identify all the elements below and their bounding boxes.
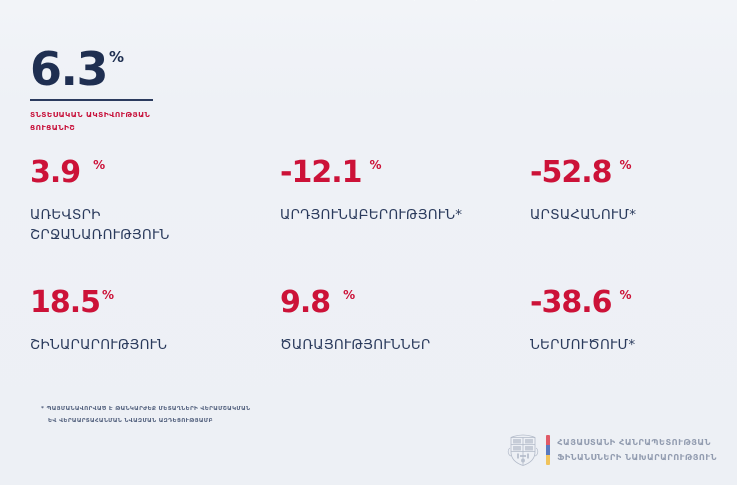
footnote-line2: ԵՎ ՎԵՐԱԱՐՏԱՀԱՆՄԱՆ ՆՎԱԶՄԱՆ ԱԶԴԵՑՈՒԹՅԱՄԲ: [41, 415, 341, 427]
kpi-percent-symbol: %: [93, 159, 105, 171]
kpi-value: 18.5: [30, 288, 100, 318]
kpi-label-line1: ԱՐՏԱՀԱՆՈՒՄ*: [530, 207, 636, 223]
kpi-percent-symbol: %: [619, 289, 631, 301]
kpi-percent-symbol: %: [369, 159, 381, 171]
kpi-label-line1: ԱՐԴՅՈՒՆԱԲԵՐՈՒԹՅՈՒՆ*: [280, 207, 462, 223]
armenian-flag-icon: [546, 435, 550, 465]
kpi-cell-services: 9.8 % ԾԱՌԱՅՈՒԹՅՈՒՆՆԵՐ: [280, 288, 530, 418]
kpi-value-row: 3.9 %: [30, 158, 280, 188]
kpi-value: 9.8: [280, 288, 330, 318]
kpi-percent-symbol: %: [343, 289, 355, 301]
kpi-value-row: 9.8 %: [280, 288, 530, 318]
ministry-logo-text: ՀԱՅԱՍՏԱՆԻ ՀԱՆՐԱՊԵՏՈՒԹՅԱՆ ՖԻՆԱՆՍՆԵՐԻ ՆԱԽԱ…: [557, 435, 717, 465]
kpi-label: ԾԱՌԱՅՈՒԹՅՈՒՆՆԵՐ: [280, 335, 515, 355]
infographic-stage: ՏՆՏԵՍԱԿԱՆ ԱԿՏԻՎՈՒԹՅԱՆ 6.3 % ՏՆՏԵՍԱԿԱՆ ԱԿ…: [0, 0, 737, 485]
kpi-label-line1: ՇԻՆԱՐԱՐՈՒԹՅՈՒՆ: [30, 337, 167, 353]
kpi-label-line1: ԾԱՌԱՅՈՒԹՅՈՒՆՆԵՐ: [280, 337, 430, 353]
headline-kpi: 6.3 % ՏՆՏԵՍԱԿԱՆ ԱԿՏԻՎՈՒԹՅԱՆ ՑՈՒՑԱՆԻՇ: [30, 48, 230, 134]
kpi-value-row: 18.5 %: [30, 288, 280, 318]
flag-stripe-orange: [546, 455, 550, 465]
flag-stripe-blue: [546, 445, 550, 455]
headline-label-line1: ՏՆՏԵՍԱԿԱՆ ԱԿՏԻՎՈՒԹՅԱՆ: [30, 110, 150, 119]
kpi-label: ԱՌԵՎՏՐԻ ՇՐՋԱՆԱՌՈՒԹՅՈՒՆ: [30, 205, 265, 246]
kpi-value-row: -38.6 %: [530, 288, 720, 318]
kpi-value: -52.8: [530, 158, 611, 188]
headline-percent-symbol: %: [109, 50, 124, 65]
headline-value: 6.3: [30, 48, 107, 90]
kpi-label: ՆԵՐՄՈՒԾՈՒՄ*: [530, 335, 720, 355]
kpi-grid: 3.9 % ԱՌԵՎՏՐԻ ՇՐՋԱՆԱՌՈՒԹՅՈՒՆ -12.1 % ԱՐԴ…: [30, 158, 720, 418]
headline-divider: [30, 99, 153, 101]
kpi-label-line1: ԱՌԵՎՏՐԻ: [30, 207, 101, 223]
kpi-percent-symbol: %: [619, 159, 631, 171]
kpi-label-line2: ՇՐՋԱՆԱՌՈՒԹՅՈՒՆ: [30, 227, 170, 243]
ministry-logo-line1: ՀԱՅԱՍՏԱՆԻ ՀԱՆՐԱՊԵՏՈՒԹՅԱՆ: [557, 435, 717, 450]
kpi-percent-symbol: %: [102, 289, 114, 301]
kpi-cell-construction: 18.5 % ՇԻՆԱՐԱՐՈՒԹՅՈՒՆ: [30, 288, 280, 418]
kpi-value: -12.1: [280, 158, 361, 188]
page-title-container: ՏՆՏԵՍԱԿԱՆ ԱԿՏԻՎՈՒԹՅԱՆ: [0, 0, 737, 28]
headline-label: ՏՆՏԵՍԱԿԱՆ ԱԿՏԻՎՈՒԹՅԱՆ ՑՈՒՑԱՆԻՇ: [30, 109, 180, 133]
kpi-cell-trade-turnover: 3.9 % ԱՌԵՎՏՐԻ ՇՐՋԱՆԱՌՈՒԹՅՈՒՆ: [30, 158, 280, 288]
ministry-logo-line2: ՖԻՆԱՆՍՆԵՐԻ ՆԱԽԱՐԱՐՈՒԹՅՈՒՆ: [557, 450, 717, 465]
coat-of-arms-icon: [507, 433, 539, 467]
page-title: ՏՆՏԵՍԱԿԱՆ ԱԿՏԻՎՈՒԹՅԱՆ: [243, 0, 737, 6]
kpi-label: ԱՐՏԱՀԱՆՈՒՄ*: [530, 205, 720, 225]
kpi-value: -38.6: [530, 288, 611, 318]
flag-stripe-red: [546, 435, 550, 445]
kpi-cell-exports: -52.8 % ԱՐՏԱՀԱՆՈՒՄ*: [530, 158, 720, 288]
footnote-line1: * ՊԱՅՄԱՆԱՎՈՐՎԱԾ Է ԹԱՆԿԱՐԺԵՔ ՄԵՏԱՂՆԵՐԻ ՎԵ…: [41, 403, 341, 415]
headline-label-line2: ՑՈՒՑԱՆԻՇ: [30, 123, 75, 132]
kpi-value: 3.9: [30, 158, 80, 188]
kpi-label-line1: ՆԵՐՄՈՒԾՈՒՄ*: [530, 337, 635, 353]
ministry-logo: ՀԱՅԱՍՏԱՆԻ ՀԱՆՐԱՊԵՏՈՒԹՅԱՆ ՖԻՆԱՆՍՆԵՐԻ ՆԱԽԱ…: [507, 433, 717, 467]
kpi-value-row: -12.1 %: [280, 158, 530, 188]
headline-value-row: 6.3 %: [30, 48, 230, 90]
footnote: * ՊԱՅՄԱՆԱՎՈՐՎԱԾ Է ԹԱՆԿԱՐԺԵՔ ՄԵՏԱՂՆԵՐԻ ՎԵ…: [41, 403, 341, 427]
kpi-cell-industry: -12.1 % ԱՐԴՅՈՒՆԱԲԵՐՈՒԹՅՈՒՆ*: [280, 158, 530, 288]
kpi-value-row: -52.8 %: [530, 158, 720, 188]
kpi-cell-imports: -38.6 % ՆԵՐՄՈՒԾՈՒՄ*: [530, 288, 720, 418]
kpi-label: ԱՐԴՅՈՒՆԱԲԵՐՈՒԹՅՈՒՆ*: [280, 205, 515, 225]
kpi-label: ՇԻՆԱՐԱՐՈՒԹՅՈՒՆ: [30, 335, 265, 355]
